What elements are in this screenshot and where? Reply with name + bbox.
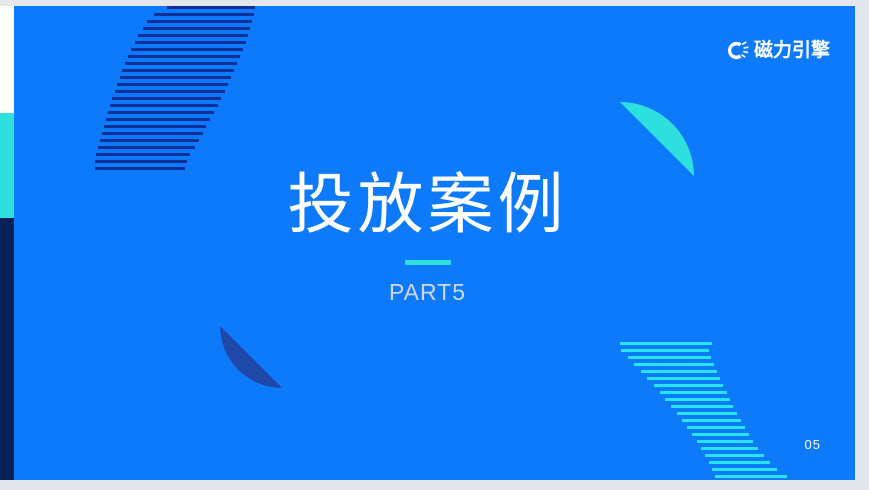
title-block: 投放案例 PART5 [0,164,855,306]
brand-logo: 磁力引擎 [726,36,830,64]
slide-canvas: 磁力引擎 投放案例 PART5 05 [0,6,855,480]
white-edge-band [0,6,14,113]
cyan-striped-arc [620,342,802,480]
brand-name: 磁力引擎 [754,39,830,62]
slide-title: 投放案例 [0,164,855,244]
slide-frame: 磁力引擎 投放案例 PART5 05 [0,0,869,490]
page-number: 05 [805,437,821,452]
c-burst-logo-icon [726,39,749,62]
navy-quarter-ring [220,326,282,388]
slide-subtitle: PART5 [0,279,855,306]
navy-striped-arc [95,6,255,172]
title-divider [405,260,451,265]
